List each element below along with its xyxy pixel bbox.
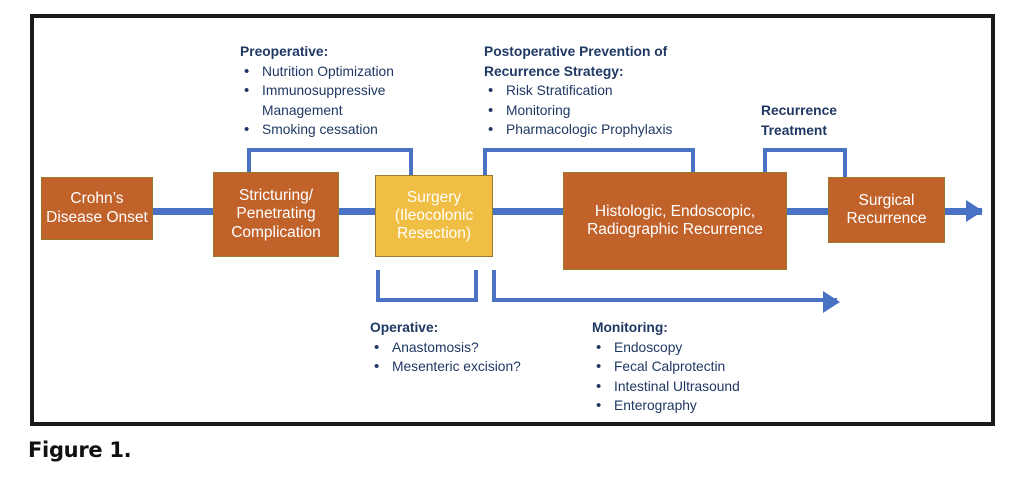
list-item: Endoscopy bbox=[592, 338, 807, 358]
connector-complication-to-surgery bbox=[338, 208, 380, 215]
node-surgery-ileocolonic-resection[interactable]: Surgery (Ileocolonic Resection) bbox=[375, 175, 493, 257]
bracket-postoperative bbox=[483, 148, 695, 175]
annotation-monitoring: Monitoring: Endoscopy Fecal Calprotectin… bbox=[592, 318, 807, 416]
postoperative-list: Risk Stratification Monitoring Pharmacol… bbox=[484, 81, 720, 140]
list-item: Risk Stratification bbox=[484, 81, 720, 101]
postoperative-heading-line2: Recurrence Strategy: bbox=[484, 62, 720, 82]
preoperative-list: Nutrition Optimization Immunosuppressive… bbox=[240, 62, 450, 140]
bracket-operative bbox=[376, 270, 478, 302]
annotation-operative: Operative: Anastomosis? Mesenteric excis… bbox=[370, 318, 535, 377]
list-item: Intestinal Ultrasound bbox=[592, 377, 807, 397]
list-item: Enterography bbox=[592, 396, 807, 416]
bracket-monitoring bbox=[492, 270, 837, 302]
recurrence-treatment-heading-line2: Treatment bbox=[761, 121, 921, 141]
list-item: Monitoring bbox=[484, 101, 720, 121]
annotation-postoperative: Postoperative Prevention of Recurrence S… bbox=[484, 42, 720, 140]
spine-arrowhead-icon bbox=[966, 200, 983, 222]
monitoring-list: Endoscopy Fecal Calprotectin Intestinal … bbox=[592, 338, 807, 416]
connector-surgery-to-recurrence bbox=[492, 208, 564, 215]
preoperative-heading: Preoperative: bbox=[240, 42, 450, 62]
list-item: Mesenteric excision? bbox=[370, 357, 535, 377]
list-item: Anastomosis? bbox=[370, 338, 535, 358]
operative-heading: Operative: bbox=[370, 318, 535, 338]
list-item: Nutrition Optimization bbox=[240, 62, 450, 82]
postoperative-heading-line1: Postoperative Prevention of bbox=[484, 42, 720, 62]
monitoring-arrowhead-icon bbox=[823, 291, 840, 313]
figure-caption: Figure 1. bbox=[28, 438, 131, 462]
node-histologic-endoscopic-radiographic-recurrence[interactable]: Histologic, Endoscopic, Radiographic Rec… bbox=[563, 172, 787, 270]
annotation-preoperative: Preoperative: Nutrition Optimization Imm… bbox=[240, 42, 450, 140]
figure-canvas: Crohn’s Disease Onset Stricturing/ Penet… bbox=[0, 0, 1024, 480]
node-stricturing-penetrating-complication[interactable]: Stricturing/ Penetrating Complication bbox=[213, 172, 339, 257]
operative-list: Anastomosis? Mesenteric excision? bbox=[370, 338, 535, 377]
annotation-recurrence-treatment: Recurrence Treatment bbox=[761, 101, 921, 140]
node-surgical-recurrence[interactable]: Surgical Recurrence bbox=[828, 177, 945, 243]
list-item: Fecal Calprotectin bbox=[592, 357, 807, 377]
node-crohns-disease-onset[interactable]: Crohn’s Disease Onset bbox=[41, 177, 153, 240]
recurrence-treatment-heading-line1: Recurrence bbox=[761, 101, 921, 121]
list-item: Immunosuppressive Management bbox=[240, 81, 450, 120]
list-item: Pharmacologic Prophylaxis bbox=[484, 120, 720, 140]
monitoring-heading: Monitoring: bbox=[592, 318, 807, 338]
connector-recurrence-to-surgical bbox=[786, 208, 828, 215]
list-item: Smoking cessation bbox=[240, 120, 450, 140]
connector-onset-to-complication bbox=[152, 208, 214, 215]
